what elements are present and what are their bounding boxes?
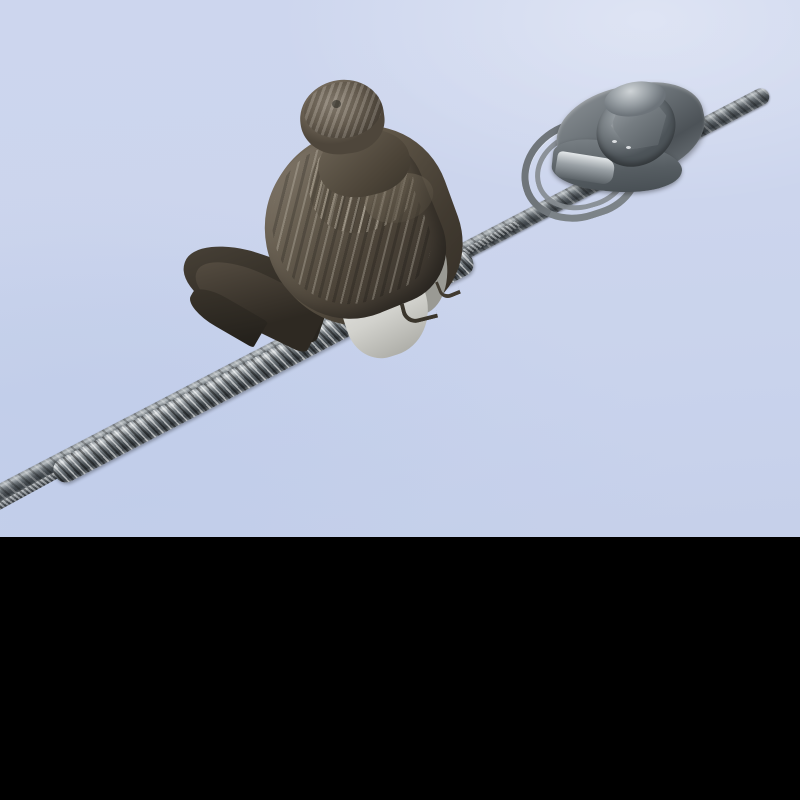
- photo-card: Golondrina parda Brown-chested Martin Pr…: [0, 0, 800, 800]
- caption-band: Golondrina parda Brown-chested Martin Pr…: [0, 537, 800, 800]
- clamp-highlight-speck: [626, 146, 631, 149]
- bird-photograph: [0, 0, 800, 537]
- clamp-highlight-speck: [612, 140, 617, 143]
- bird-subject: [180, 78, 480, 408]
